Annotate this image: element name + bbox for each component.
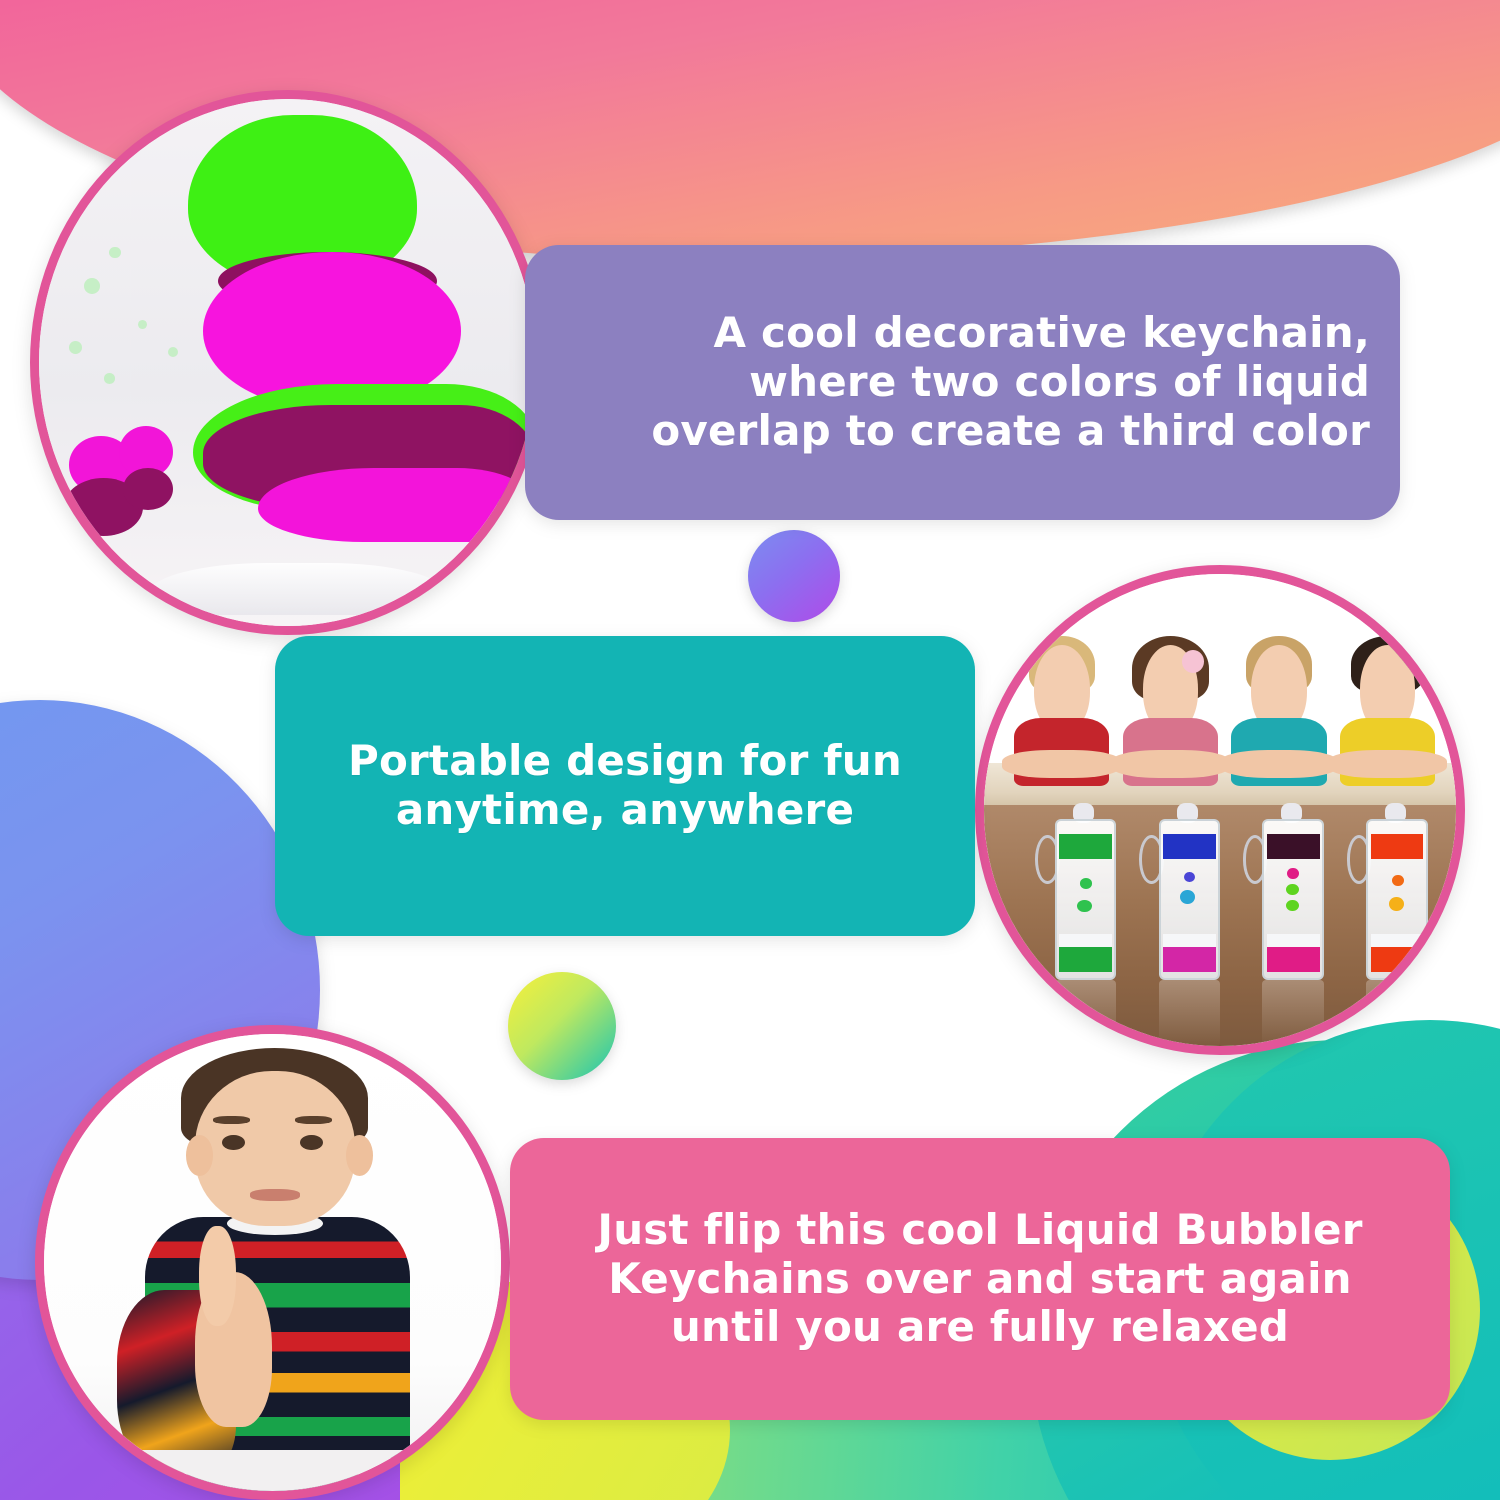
keychain-bubble [1180, 890, 1195, 904]
keychain-green [1055, 819, 1116, 979]
liquid-bubble-icon [168, 347, 178, 357]
keychain-top-liquid [1163, 834, 1216, 859]
infographic-canvas: A cool decorative keychain, where two co… [0, 0, 1500, 1500]
keychain-bubble [1392, 875, 1403, 886]
photo-liquid-macro [30, 90, 545, 635]
keychain-case [1055, 819, 1116, 979]
keychain-reflection [1366, 980, 1427, 1046]
dark-droplet [123, 468, 173, 510]
keychain-mid-band [1059, 934, 1112, 947]
liquid-macro-illustration [39, 99, 536, 626]
boy-eyebrow [295, 1116, 332, 1124]
keychain-bubble [1184, 872, 1195, 883]
child-figure [1229, 645, 1328, 787]
feature-text-flip: Just flip this cool Liquid Bubbler Keych… [510, 1206, 1450, 1352]
keychain-top-liquid [1267, 834, 1320, 859]
boy-eyebrow [213, 1116, 250, 1124]
liquid-bubble-icon [109, 247, 121, 259]
liquid-bubble-icon [69, 341, 82, 354]
child-figure [1012, 645, 1111, 787]
keychain-bubble [1077, 900, 1092, 913]
child-figure [1338, 645, 1437, 787]
keychain-mid-band [1267, 934, 1320, 947]
boy-mouth [250, 1189, 300, 1201]
feature-card-portable: Portable design for fun anytime, anywher… [275, 636, 975, 936]
boy-ear [346, 1135, 373, 1176]
keychain-mid-band [1163, 934, 1216, 947]
keychain-bottom-liquid [1163, 947, 1216, 972]
boy-illustration [44, 1034, 501, 1491]
keychain-bubble [1080, 878, 1093, 889]
boy-eye [222, 1135, 245, 1151]
photo-kids-with-keychains [975, 565, 1465, 1055]
boy-eye [300, 1135, 323, 1151]
boy-ear [186, 1135, 213, 1176]
feature-card-flip: Just flip this cool Liquid Bubbler Keych… [510, 1138, 1450, 1420]
kids-illustration [984, 574, 1456, 1046]
keychain-mid-band [1371, 934, 1424, 947]
keychain-reflection [1159, 980, 1220, 1046]
keychain-reflection [1262, 980, 1323, 1046]
child-arms [1328, 750, 1447, 778]
feature-text-portable: Portable design for fun anytime, anywher… [275, 737, 975, 834]
magenta-liquid-lower [258, 468, 536, 542]
child-figure [1121, 645, 1220, 787]
keychain-case [1262, 819, 1323, 979]
keychain-bubble [1287, 868, 1298, 879]
liquid-bubble-icon [104, 373, 115, 384]
keychain-bottom-liquid [1059, 947, 1112, 972]
glass-tube-highlight [148, 563, 446, 616]
keychain-bottom-liquid [1267, 947, 1320, 972]
table-surface [44, 1450, 501, 1491]
keychain-case [1366, 819, 1427, 979]
feature-text-decorative: A cool decorative keychain, where two co… [590, 309, 1400, 455]
keychain-pink [1262, 819, 1323, 979]
child-arms [1002, 750, 1121, 778]
child-arms [1111, 750, 1230, 778]
feature-card-decorative: A cool decorative keychain, where two co… [525, 245, 1400, 520]
keychain-reflection [1055, 980, 1116, 1046]
boy-head [195, 1071, 355, 1226]
purple-accent-dot [748, 530, 840, 622]
keychain-bottom-liquid [1371, 947, 1424, 972]
keychain-bubble [1389, 897, 1404, 911]
keychain-bubble [1286, 900, 1299, 911]
keychain-orange [1366, 819, 1427, 979]
keychain-top-liquid [1371, 834, 1424, 859]
keychain-blue [1159, 819, 1220, 979]
thumb-icon [199, 1226, 236, 1327]
lime-accent-dot [508, 972, 616, 1080]
keychain-bubble [1286, 884, 1299, 895]
photo-boy-thumbs-up [35, 1025, 510, 1500]
liquid-bubble-icon [84, 278, 100, 294]
child-arms [1220, 750, 1339, 778]
keychain-case [1159, 819, 1220, 979]
keychain-top-liquid [1059, 834, 1112, 859]
